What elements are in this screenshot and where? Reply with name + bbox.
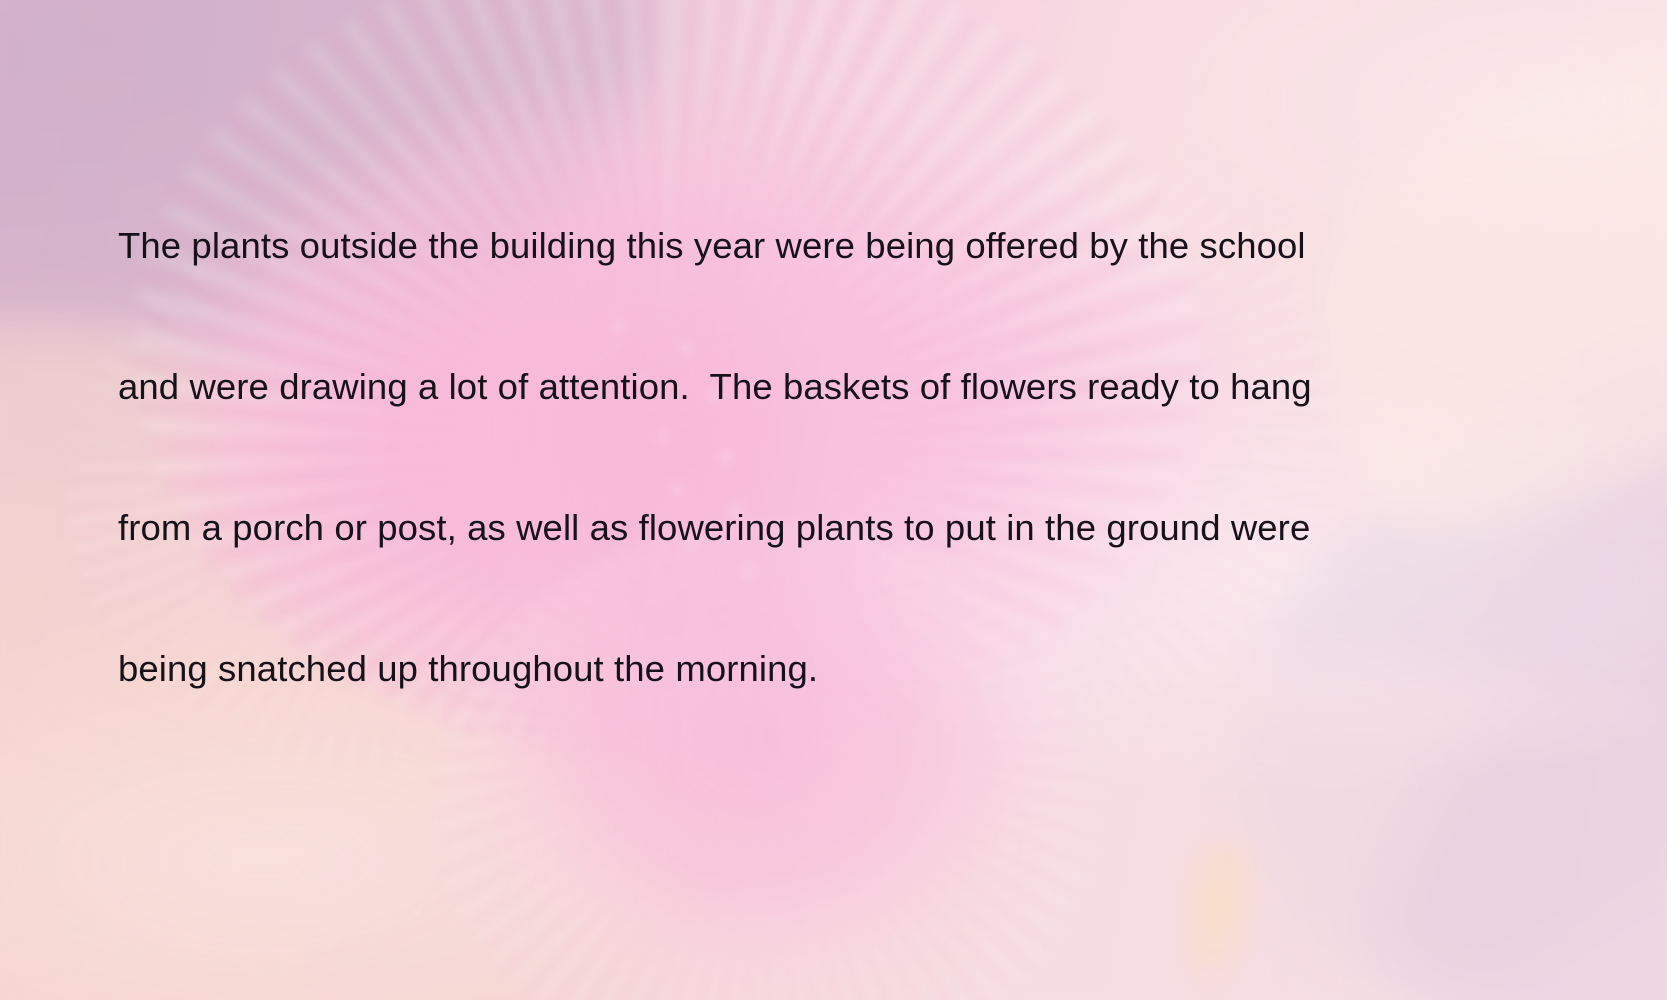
body-line-4: being snatched up throughout the morning… <box>118 645 1518 692</box>
body-line-3: from a porch or post, as well as floweri… <box>118 504 1518 551</box>
slide-canvas: The plants outside the building this yea… <box>0 0 1667 1000</box>
slide-body-text: The plants outside the building this yea… <box>118 128 1518 786</box>
body-line-2: and were drawing a lot of attention. The… <box>118 363 1518 410</box>
body-line-1: The plants outside the building this yea… <box>118 222 1518 269</box>
